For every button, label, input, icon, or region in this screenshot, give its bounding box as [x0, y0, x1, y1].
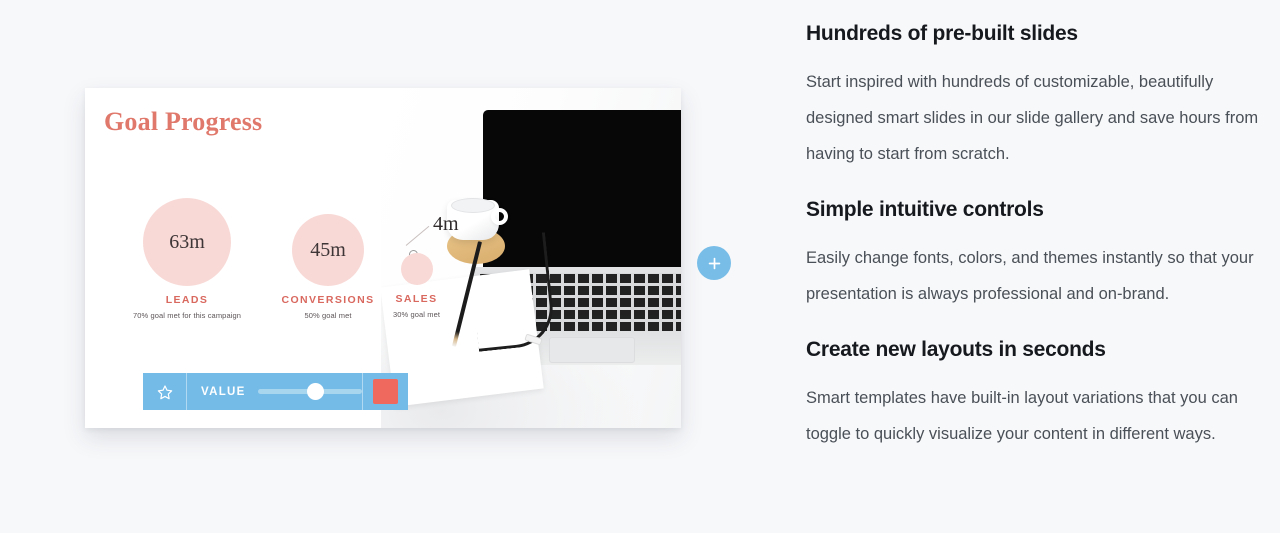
- feature-body-3: Smart templates have built-in layout var…: [806, 380, 1280, 452]
- favorite-star-button[interactable]: [143, 373, 187, 410]
- chart-label-sales: SALES: [349, 293, 484, 305]
- slide-card[interactable]: Goal Progress 63m LEADS 70% goal met for…: [85, 88, 681, 428]
- features-panel: Hundreds of pre-built slides Start inspi…: [806, 0, 1280, 533]
- feature-body-2: Easily change fonts, colors, and themes …: [806, 240, 1280, 312]
- chart-caption-sales: 30% goal met: [349, 310, 484, 319]
- slide-preview-panel: Goal Progress 63m LEADS 70% goal met for…: [0, 0, 768, 533]
- mug-rim-shape: [451, 198, 495, 213]
- slider-knob[interactable]: [307, 383, 324, 400]
- feature-heading-1: Hundreds of pre-built slides: [806, 22, 1280, 46]
- star-outline-icon: [157, 384, 173, 400]
- color-swatch[interactable]: [373, 379, 398, 404]
- slide-control-bar[interactable]: VALUE: [143, 373, 408, 410]
- bubble-value-leads: 63m: [169, 231, 205, 254]
- feature-heading-2: Simple intuitive controls: [806, 198, 1280, 222]
- bubble-chart: 63m LEADS 70% goal met for this campaign…: [85, 198, 445, 353]
- add-slide-button[interactable]: [697, 246, 731, 280]
- laptop-trackpad-shape: [549, 337, 635, 363]
- feature-heading-3: Create new layouts in seconds: [806, 338, 1280, 362]
- value-label: VALUE: [201, 386, 246, 398]
- bubble-sales: [401, 253, 433, 285]
- feature-block-1: Hundreds of pre-built slides Start inspi…: [806, 22, 1280, 172]
- bubble-value-sales: 4m: [433, 213, 459, 236]
- color-swatch-button[interactable]: [362, 373, 408, 410]
- mug-handle-shape: [491, 208, 508, 225]
- bubble-value-conversions: 45m: [310, 239, 346, 262]
- feature-block-2: Simple intuitive controls Easily change …: [806, 198, 1280, 312]
- feature-block-3: Create new layouts in seconds Smart temp…: [806, 338, 1280, 452]
- plus-icon: [706, 255, 723, 272]
- chart-item-sales: SALES 30% goal met: [349, 253, 484, 319]
- bubble-leads: 63m: [143, 198, 231, 286]
- slide-title: Goal Progress: [104, 107, 262, 137]
- value-slider[interactable]: [258, 389, 362, 394]
- feature-body-1: Start inspired with hundreds of customiz…: [806, 64, 1280, 172]
